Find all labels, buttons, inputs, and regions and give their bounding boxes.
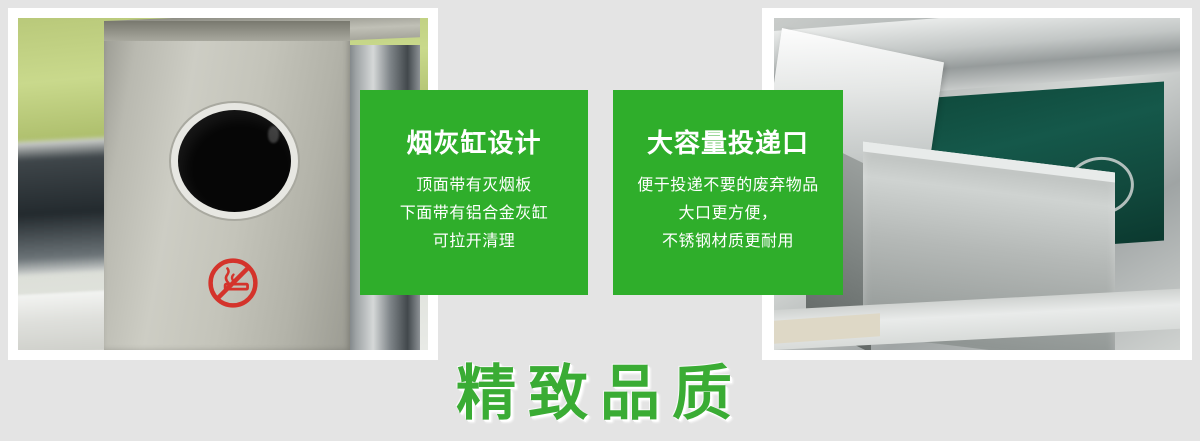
feature-panel-description: 便于投递不要的废弃物品 大口更方便， 不锈钢材质更耐用 [637,172,819,256]
feature-line: 大口更方便， [637,200,819,228]
ashtray-oval-opening [178,110,291,212]
feature-line: 顶面带有灭烟板 [400,172,549,200]
feature-panel-large-opening: 大容量投递口 便于投递不要的废弃物品 大口更方便， 不锈钢材质更耐用 [613,90,843,295]
feature-line: 不锈钢材质更耐用 [637,228,819,256]
no-smoking-icon [205,255,261,311]
feature-line: 可拉开清理 [400,228,549,256]
bin-front-panel [104,21,350,350]
feature-panel-description: 顶面带有灭烟板 下面带有铝合金灰缸 可拉开清理 [400,172,549,256]
feature-panel-title: 大容量投递口 [647,129,809,159]
product-feature-banner: 烟灰缸设计 顶面带有灭烟板 下面带有铝合金灰缸 可拉开清理 大容量投递口 便于投… [0,0,1200,441]
feature-panel-title: 烟灰缸设计 [406,129,541,159]
feature-line: 便于投递不要的废弃物品 [637,172,819,200]
feature-line: 下面带有铝合金灰缸 [400,200,549,228]
feature-panel-ashtray: 烟灰缸设计 顶面带有灭烟板 下面带有铝合金灰缸 可拉开清理 [360,90,588,295]
banner-headline: 精致品质 [0,356,1200,432]
